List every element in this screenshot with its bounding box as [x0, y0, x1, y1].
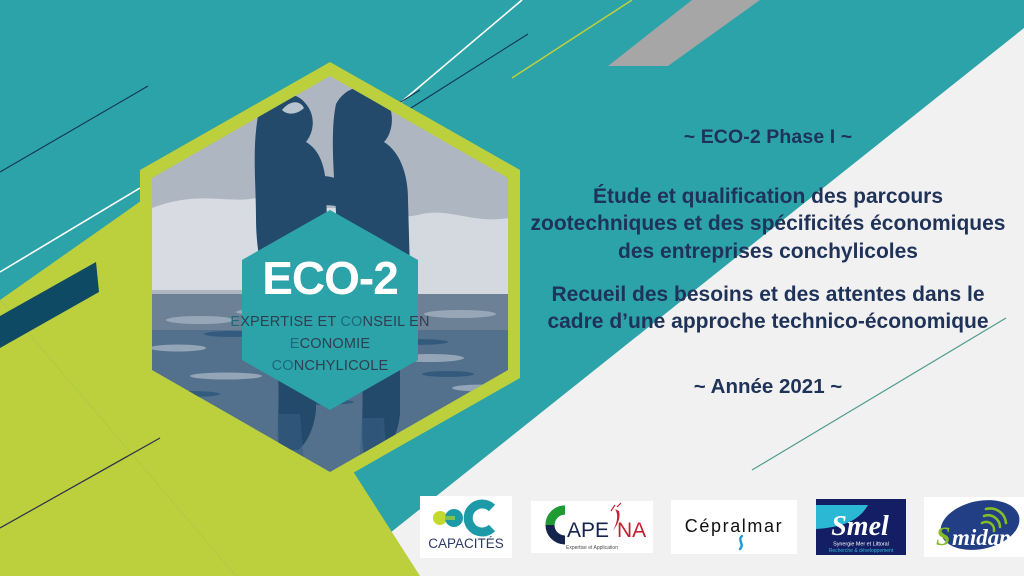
smel-tagline-line1: Synergie Mer et Littoral — [833, 542, 889, 548]
eco2-wordmark: ECO-2 — [262, 252, 398, 304]
capacites-wordmark: CAPACITÉS — [428, 536, 504, 551]
cepralmar-wave-icon — [740, 536, 742, 549]
presentation-slide: ECO-2 EXPERTISE ET CONSEIL EN ECONOMIE C… — [0, 0, 1024, 576]
smidap-wordmark-s: S — [936, 522, 950, 551]
study-title-paragraph: Étude et qualification des parcours zoot… — [512, 183, 1024, 265]
capena-wordmark-na: NA — [617, 519, 646, 542]
partner-logo-capena[interactable]: APE NA Expertise et Application — [531, 501, 653, 553]
title-text-block: ~ ECO-2 Phase I ~ Étude et qualification… — [512, 126, 1024, 399]
phase-label: ~ ECO-2 Phase I ~ — [512, 126, 1024, 149]
capacites-dot-green — [433, 511, 447, 525]
eco2-tagline-line3: CONCHYLICOLE — [272, 358, 389, 374]
partner-logo-cepralmar[interactable]: Cépralmar — [671, 500, 797, 554]
capacites-connector — [445, 516, 455, 520]
study-subtitle-paragraph: Recueil des besoins et des attentes dans… — [512, 281, 1024, 336]
year-label: ~ Année 2021 ~ — [512, 375, 1024, 399]
cepralmar-logo-graphic: Cépralmar — [671, 500, 797, 554]
capacites-logo-graphic: CAPACITÉS — [420, 496, 512, 558]
smel-tagline-line2: Recherche & développement — [828, 548, 893, 554]
smidap-wordmark-rest: midap — [952, 525, 1011, 550]
capena-wordmark-ape: APE — [567, 519, 609, 542]
capena-logo-graphic: APE NA Expertise et Application — [531, 501, 653, 553]
eco2-hexagon-logo: ECO-2 EXPERTISE ET CONSEIL EN ECONOMIE C… — [130, 58, 530, 490]
smel-logo-graphic: Smel Synergie Mer et Littoral Recherche … — [816, 499, 906, 555]
cepralmar-wordmark: Cépralmar — [685, 516, 783, 536]
eco2-tagline-line1: EXPERTISE ET CONSEIL EN — [230, 314, 429, 330]
hexagon-logo-graphic: ECO-2 EXPERTISE ET CONSEIL EN ECONOMIE C… — [130, 58, 530, 490]
smidap-logo-graphic: S midap — [924, 497, 1024, 557]
partner-logo-capacites[interactable]: CAPACITÉS — [420, 496, 512, 558]
partner-logo-strip: CAPACITÉS APE NA Expertise et Applicatio… — [420, 490, 1024, 564]
smel-wordmark: Smel — [831, 511, 889, 542]
partner-logo-smel[interactable]: Smel Synergie Mer et Littoral Recherche … — [816, 499, 906, 555]
partner-logo-smidap[interactable]: S midap — [924, 497, 1024, 557]
capena-tagline: Expertise et Application — [566, 545, 618, 551]
eco2-tagline-line2: ECONOMIE — [290, 336, 371, 352]
